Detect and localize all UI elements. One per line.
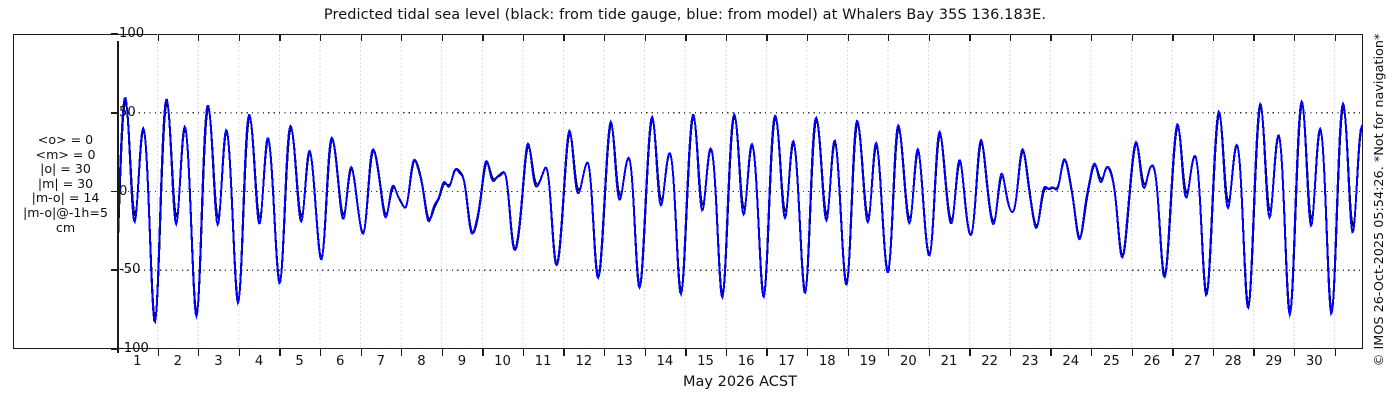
- x-tick-mark-top: [523, 34, 524, 41]
- x-tick-label: 9: [447, 355, 477, 369]
- x-tick-mark-top: [807, 34, 808, 41]
- x-tick-mark-bottom: [848, 349, 849, 356]
- x-tick-mark-bottom: [1253, 349, 1254, 356]
- x-tick-mark-top: [1132, 34, 1133, 41]
- x-tick-mark-bottom: [482, 349, 483, 356]
- x-tick-mark-top: [279, 34, 280, 41]
- x-tick-mark-bottom: [158, 349, 159, 356]
- statistics-panel: <o> = 0 <m> = 0 |o| = 30 |m| = 30 |m-o| …: [14, 133, 117, 235]
- stat-diff-abs: |m-o| = 14: [14, 191, 117, 206]
- x-tick-mark-bottom: [563, 349, 564, 356]
- x-tick-mark-top: [848, 34, 849, 41]
- x-tick-mark-top: [482, 34, 483, 41]
- x-axis-title: May 2026 ACST: [117, 374, 1363, 390]
- tidal-chart-figure: Predicted tidal sea level (black: from t…: [0, 0, 1400, 400]
- x-tick-mark-bottom: [239, 349, 240, 356]
- x-tick-mark-top: [361, 34, 362, 41]
- x-tick-mark-bottom: [320, 349, 321, 356]
- series-line-model: [117, 98, 1362, 322]
- stat-observed-mean: <o> = 0: [14, 133, 117, 148]
- x-tick-mark-top: [320, 34, 321, 41]
- y-tick-label: 100: [119, 27, 144, 40]
- x-tick-mark-bottom: [1050, 349, 1051, 356]
- x-tick-label: 14: [650, 355, 680, 369]
- x-tick-mark-top: [685, 34, 686, 41]
- y-tick-mark: [111, 191, 118, 193]
- x-tick-mark-top: [766, 34, 767, 41]
- x-tick-label: 6: [325, 355, 355, 369]
- x-tick-label: 7: [366, 355, 396, 369]
- stat-model-abs: |m| = 30: [14, 177, 117, 192]
- y-tick-label: 0: [119, 185, 127, 198]
- x-tick-label: 12: [569, 355, 599, 369]
- y-tick-mark: [111, 348, 118, 350]
- copyright-notice: © IMOS 26-Oct-2025 05:54:26. *Not for na…: [1372, 34, 1387, 367]
- x-tick-label: 27: [1178, 355, 1208, 369]
- x-tick-mark-bottom: [1213, 349, 1214, 356]
- x-tick-mark-top: [1050, 34, 1051, 41]
- x-tick-label: 30: [1299, 355, 1329, 369]
- stat-units: cm: [14, 221, 117, 236]
- y-tick-mark: [111, 269, 118, 271]
- x-tick-mark-top: [1091, 34, 1092, 41]
- x-tick-label: 18: [812, 355, 842, 369]
- x-tick-mark-bottom: [604, 349, 605, 356]
- x-tick-mark-bottom: [361, 349, 362, 356]
- x-tick-label: 13: [609, 355, 639, 369]
- x-tick-mark-top: [158, 34, 159, 41]
- x-tick-label: 24: [1056, 355, 1086, 369]
- plot-area: [117, 34, 1363, 349]
- x-tick-label: 8: [406, 355, 436, 369]
- y-tick-label: -50: [119, 263, 141, 276]
- x-tick-label: 1: [122, 355, 152, 369]
- x-tick-mark-top: [969, 34, 970, 41]
- x-tick-mark-top: [1172, 34, 1173, 41]
- x-tick-mark-top: [604, 34, 605, 41]
- x-tick-mark-top: [888, 34, 889, 41]
- x-tick-mark-bottom: [279, 349, 280, 356]
- x-tick-label: 17: [772, 355, 802, 369]
- x-tick-mark-bottom: [442, 349, 443, 356]
- x-tick-mark-bottom: [198, 349, 199, 356]
- x-tick-mark-bottom: [1091, 349, 1092, 356]
- x-tick-mark-bottom: [1010, 349, 1011, 356]
- x-tick-label: 26: [1137, 355, 1167, 369]
- stat-observed-abs: |o| = 30: [14, 162, 117, 177]
- x-tick-label: 11: [528, 355, 558, 369]
- x-tick-label: 20: [893, 355, 923, 369]
- x-tick-mark-top: [239, 34, 240, 41]
- y-tick-mark: [111, 112, 118, 114]
- x-tick-mark-bottom: [645, 349, 646, 356]
- page-title: Predicted tidal sea level (black: from t…: [0, 7, 1370, 23]
- x-tick-label: 5: [285, 355, 315, 369]
- x-tick-mark-bottom: [929, 349, 930, 356]
- y-tick-mark: [111, 33, 118, 35]
- y-tick-label: 50: [119, 106, 136, 119]
- x-tick-label: 21: [934, 355, 964, 369]
- x-tick-mark-top: [1010, 34, 1011, 41]
- x-tick-mark-bottom: [685, 349, 686, 356]
- x-tick-mark-bottom: [1335, 349, 1336, 356]
- x-tick-mark-top: [401, 34, 402, 41]
- x-tick-mark-top: [563, 34, 564, 41]
- x-tick-label: 28: [1218, 355, 1248, 369]
- x-tick-label: 16: [731, 355, 761, 369]
- x-tick-label: 25: [1096, 355, 1126, 369]
- stat-diff-shifted: |m-o|@-1h=5: [14, 206, 117, 221]
- x-tick-mark-top: [198, 34, 199, 41]
- tidal-series-svg: [117, 34, 1363, 349]
- x-tick-mark-top: [1294, 34, 1295, 41]
- x-tick-label: 19: [853, 355, 883, 369]
- x-tick-label: 23: [1015, 355, 1045, 369]
- x-tick-label: 29: [1259, 355, 1289, 369]
- x-tick-mark-bottom: [807, 349, 808, 356]
- x-tick-mark-top: [1335, 34, 1336, 41]
- x-tick-mark-bottom: [1294, 349, 1295, 356]
- x-tick-label: 2: [163, 355, 193, 369]
- x-tick-mark-bottom: [1132, 349, 1133, 356]
- x-tick-label: 15: [691, 355, 721, 369]
- x-tick-mark-top: [929, 34, 930, 41]
- stat-model-mean: <m> = 0: [14, 148, 117, 163]
- x-tick-mark-bottom: [726, 349, 727, 356]
- x-tick-mark-bottom: [969, 349, 970, 356]
- x-tick-mark-bottom: [888, 349, 889, 356]
- x-tick-mark-bottom: [523, 349, 524, 356]
- x-tick-mark-bottom: [766, 349, 767, 356]
- x-tick-label: 4: [244, 355, 274, 369]
- x-tick-label: 3: [203, 355, 233, 369]
- x-tick-mark-bottom: [1172, 349, 1173, 356]
- x-tick-mark-top: [726, 34, 727, 41]
- x-tick-label: 10: [488, 355, 518, 369]
- x-tick-mark-bottom: [401, 349, 402, 356]
- x-tick-mark-top: [645, 34, 646, 41]
- x-tick-mark-top: [1213, 34, 1214, 41]
- x-tick-label: 22: [975, 355, 1005, 369]
- x-tick-mark-top: [442, 34, 443, 41]
- x-tick-mark-top: [1253, 34, 1254, 41]
